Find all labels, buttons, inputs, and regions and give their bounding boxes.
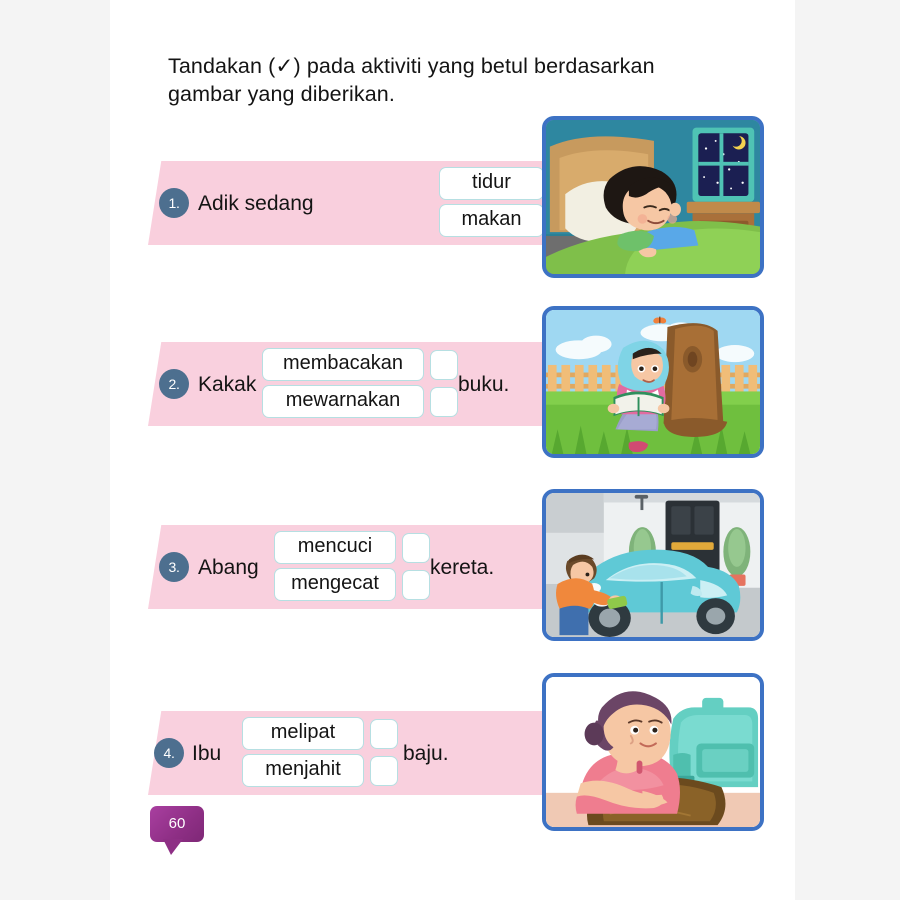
question-number-badge-4: 4. [154, 738, 184, 768]
checkbox-4b[interactable] [370, 756, 398, 786]
choice-group-4: melipat menjahit [242, 717, 398, 787]
question-object-4: baju. [403, 742, 449, 766]
checkbox-2b[interactable] [430, 387, 458, 417]
choice-line-2a: membacakan [262, 348, 458, 381]
page-number-text: 60 [150, 806, 204, 842]
question-subject-1: Adik sedang [198, 192, 314, 216]
option-box-3a[interactable]: mencuci [274, 531, 396, 564]
sleeping-child-illustration [542, 116, 764, 278]
instruction-line-1: Tandakan (✓) pada aktiviti yang betul be… [168, 52, 740, 80]
option-box-4b[interactable]: menjahit [242, 754, 364, 787]
instruction-text: Tandakan (✓) pada aktiviti yang betul be… [168, 52, 740, 109]
option-box-4a[interactable]: melipat [242, 717, 364, 750]
checkbox-3b[interactable] [402, 570, 430, 600]
worksheet-page: Tandakan (✓) pada aktiviti yang betul be… [110, 0, 795, 900]
question-number-badge-3: 3. [159, 552, 189, 582]
question-object-3: kereta. [430, 556, 494, 580]
girl-reading-book-illustration [542, 306, 764, 458]
option-box-3b[interactable]: mengecat [274, 568, 396, 601]
instruction-line-2: gambar yang diberikan. [168, 80, 740, 108]
choice-group-3: mencuci mengecat [274, 531, 430, 601]
question-object-2: buku. [458, 373, 509, 397]
option-box-1b[interactable]: makan [439, 204, 544, 237]
boy-washing-car-illustration [542, 489, 764, 641]
question-subject-2: Kakak [198, 373, 256, 397]
option-box-2a[interactable]: membacakan [262, 348, 424, 381]
question-subject-4: Ibu [192, 742, 221, 766]
choice-group-2: membacakan mewarnakan [262, 348, 458, 418]
woman-sewing-illustration [542, 673, 764, 831]
checkbox-2a[interactable] [430, 350, 458, 380]
question-subject-3: Abang [198, 556, 259, 580]
choice-line-4b: menjahit [242, 754, 398, 787]
checkbox-4a[interactable] [370, 719, 398, 749]
option-box-1a[interactable]: tidur [439, 167, 544, 200]
choice-line-3b: mengecat [274, 568, 430, 601]
option-box-2b[interactable]: mewarnakan [262, 385, 424, 418]
question-number-badge-2: 2. [159, 369, 189, 399]
checkbox-3a[interactable] [402, 533, 430, 563]
choice-line-3a: mencuci [274, 531, 430, 564]
choice-line-4a: melipat [242, 717, 398, 750]
choice-line-2b: mewarnakan [262, 385, 458, 418]
question-number-badge-1: 1. [159, 188, 189, 218]
page-number-badge: 60 [150, 806, 204, 850]
